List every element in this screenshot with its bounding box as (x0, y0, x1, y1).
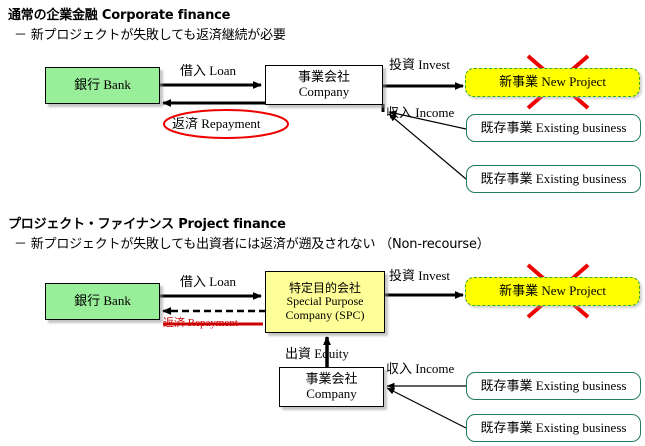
box-new-project-top-line1: 新事業 New Project (499, 75, 606, 90)
label-invest-bottom: 投資 Invest (389, 269, 450, 282)
label-repayment-bottom: 返済 Repayment (163, 318, 238, 329)
box-company-top-line2: Company (299, 85, 350, 100)
section-heading-corporate-finance: 通常の企業金融 Corporate finance (8, 4, 230, 23)
box-bank-bottom-line1: 銀行 Bank (74, 294, 131, 309)
box-new-project-bottom-line1: 新事業 New Project (499, 284, 606, 299)
section-heading-project-finance: プロジェクト・ファイナンス Project finance (8, 213, 286, 232)
box-existing-business-top-2-line1: 既存事業 Existing business (481, 172, 627, 187)
box-new-project-bottom[interactable]: 新事業 New Project (465, 277, 640, 306)
box-existing-business-top-1-line1: 既存事業 Existing business (481, 121, 627, 136)
box-spc-line2: Special Purpose (287, 295, 364, 308)
box-spc-line1: 特定目的会社 (289, 282, 361, 295)
label-loan-top: 借入 Loan (180, 64, 236, 77)
box-existing-business-top-2[interactable]: 既存事業 Existing business (466, 165, 641, 193)
section-subheading-corporate-finance: － 新プロジェクトが失敗しても返済継続が必要 (14, 24, 286, 43)
box-company-bottom-line1: 事業会社 (305, 372, 357, 387)
box-bank-top[interactable]: 銀行 Bank (45, 67, 160, 104)
box-company-bottom[interactable]: 事業会社 Company (279, 367, 384, 407)
box-bank-top-line1: 銀行 Bank (74, 78, 131, 93)
arrow-income-bottom-2 (387, 388, 466, 428)
diagram-canvas: 通常の企業金融 Corporate finance － 新プロジェクトが失敗して… (0, 0, 645, 446)
label-income-bottom: 収入 Income (386, 362, 454, 375)
label-repayment-top: 返済 Repayment (172, 117, 260, 130)
box-existing-business-top-1[interactable]: 既存事業 Existing business (466, 114, 641, 142)
box-company-top[interactable]: 事業会社 Company (265, 65, 383, 105)
box-spc-line3: Company (SPC) (285, 309, 364, 322)
box-spc-bottom[interactable]: 特定目的会社 Special Purpose Company (SPC) (265, 271, 385, 333)
box-new-project-top[interactable]: 新事業 New Project (465, 68, 640, 97)
label-equity-bottom: 出資 Equity (285, 347, 349, 360)
section-subheading-project-finance: － 新プロジェクトが失敗しても出資者には返済が遡及されない （Non-recou… (14, 233, 490, 252)
box-existing-business-bottom-1-line1: 既存事業 Existing business (481, 379, 627, 394)
box-company-top-line1: 事業会社 (298, 70, 350, 85)
box-company-bottom-line2: Company (306, 387, 357, 402)
arrow-income-top-2 (389, 114, 466, 179)
box-existing-business-bottom-2[interactable]: 既存事業 Existing business (466, 414, 641, 442)
box-existing-business-bottom-1[interactable]: 既存事業 Existing business (466, 372, 641, 400)
label-loan-bottom: 借入 Loan (180, 275, 236, 288)
box-bank-bottom[interactable]: 銀行 Bank (45, 283, 160, 320)
box-existing-business-bottom-2-line1: 既存事業 Existing business (481, 421, 627, 436)
label-invest-top: 投資 Invest (389, 58, 450, 71)
label-income-top: 収入 Income (386, 106, 454, 119)
